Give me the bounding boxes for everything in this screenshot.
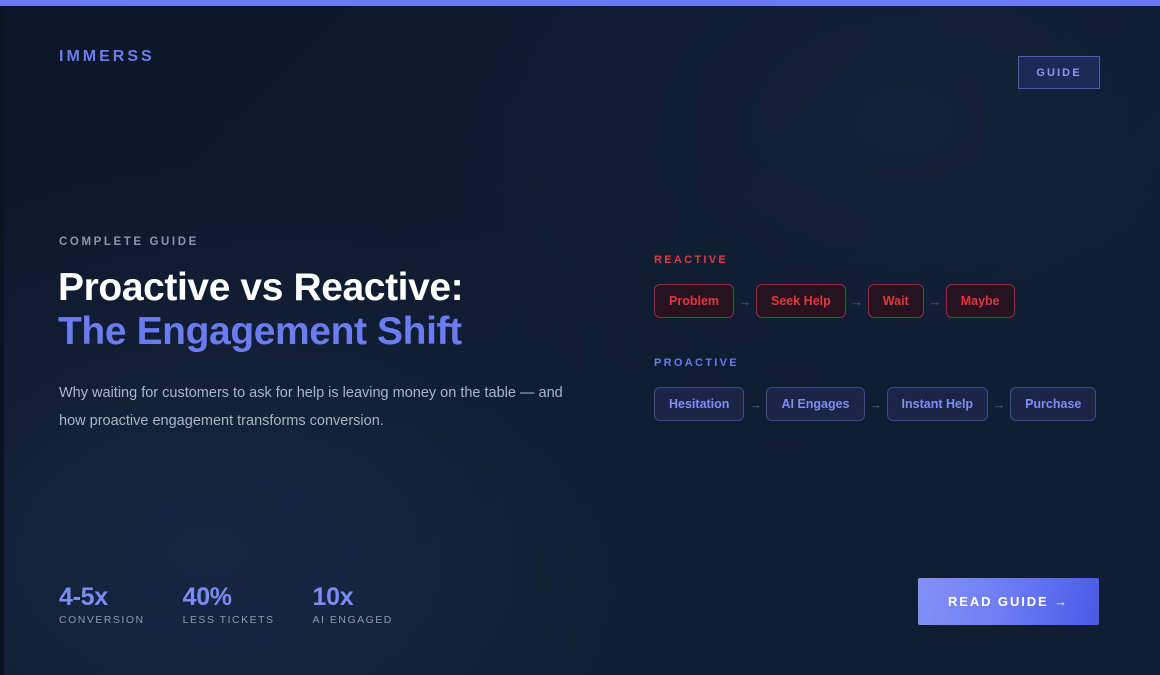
flow-step-chip[interactable]: Hesitation	[654, 387, 744, 421]
flow-step-chip[interactable]: Instant Help	[887, 387, 989, 421]
page-title: Proactive vs Reactive: The Engagement Sh…	[58, 266, 678, 354]
stat-item: 10xAI ENGAGED	[313, 583, 393, 626]
page-header: IMMERSS GUIDE	[0, 6, 1160, 116]
read-guide-button-label: READ GUIDE →	[948, 594, 1069, 609]
headline-line-primary: Proactive vs Reactive:	[58, 266, 678, 310]
stat-item: 4-5xCONVERSION	[59, 583, 145, 626]
flow-row-proactive: Hesitation→AI Engages→Instant Help→Purch…	[654, 387, 1096, 421]
flow-arrow: →	[924, 294, 946, 309]
flow-arrow: →	[744, 397, 766, 412]
stat-label: AI ENGAGED	[313, 614, 393, 626]
flow-arrow: →	[846, 294, 868, 309]
flow-label-proactive: PROACTIVE	[654, 357, 739, 369]
flow-arrow: →	[988, 397, 1010, 412]
stat-label: CONVERSION	[59, 614, 145, 626]
flow-arrow: →	[734, 294, 756, 309]
stats-group: 4-5xCONVERSION40%LESS TICKETS10xAI ENGAG…	[59, 583, 393, 626]
hero-subcopy: Why waiting for customers to ask for hel…	[59, 379, 569, 435]
eyebrow-label: COMPLETE GUIDE	[59, 236, 199, 248]
flow-arrow: →	[865, 397, 887, 412]
stat-label: LESS TICKETS	[183, 614, 275, 626]
guide-badge[interactable]: GUIDE	[1018, 56, 1100, 89]
flow-label-reactive: REACTIVE	[654, 254, 728, 266]
guide-badge-label: GUIDE	[1036, 67, 1081, 79]
read-guide-button[interactable]: READ GUIDE →	[918, 578, 1099, 625]
stat-value: 10x	[313, 583, 393, 611]
brand-logo[interactable]: IMMERSS	[59, 48, 155, 66]
flow-step-chip[interactable]: Wait	[868, 284, 924, 318]
stat-item: 40%LESS TICKETS	[183, 583, 275, 626]
flow-step-chip[interactable]: Seek Help	[756, 284, 846, 318]
flow-step-chip[interactable]: Purchase	[1010, 387, 1096, 421]
flow-row-reactive: Problem→Seek Help→Wait→Maybe	[654, 284, 1015, 318]
hero-page: IMMERSS GUIDE COMPLETE GUIDE Proactive v…	[0, 0, 1160, 675]
flow-step-chip[interactable]: AI Engages	[766, 387, 864, 421]
flow-step-chip[interactable]: Problem	[654, 284, 734, 318]
flow-step-chip[interactable]: Maybe	[946, 284, 1015, 318]
stat-value: 40%	[183, 583, 275, 611]
stat-value: 4-5x	[59, 583, 145, 611]
headline-line-accent: The Engagement Shift	[58, 310, 678, 354]
